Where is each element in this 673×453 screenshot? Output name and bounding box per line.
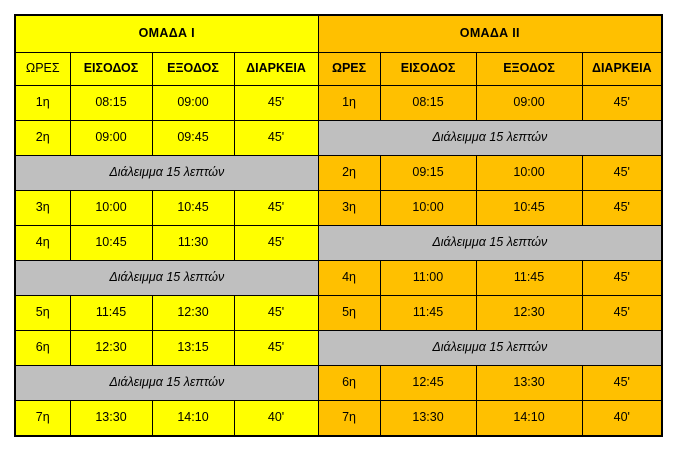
cell-entry-time: 12:30	[70, 331, 152, 366]
cell-period-number: 4η	[318, 261, 380, 296]
group-title-row: ΟΜΑΔΑ ΙΟΜΑΔΑ ΙΙ	[15, 15, 662, 53]
cell-duration: 45'	[582, 156, 662, 191]
cell-duration: 45'	[234, 331, 318, 366]
cell-duration: 40'	[582, 401, 662, 437]
cell-duration: 45'	[234, 191, 318, 226]
cell-entry-time: 08:15	[380, 86, 476, 121]
schedule-row: Διάλειμμα 15 λεπτών4η11:0011:4545'	[15, 261, 662, 296]
cell-period-number: 7η	[318, 401, 380, 437]
schedule-table: ΟΜΑΔΑ ΙΟΜΑΔΑ ΙΙΩΡΕΣΕΙΣΟΔΟΣΕΞΟΔΟΣΔΙΑΡΚΕΙΑ…	[14, 14, 663, 437]
cell-entry-time: 13:30	[380, 401, 476, 437]
break-row-label: Διάλειμμα 15 λεπτών	[15, 366, 318, 401]
cell-exit-time: 09:00	[476, 86, 582, 121]
schedule-row: 4η10:4511:3045'Διάλειμμα 15 λεπτών	[15, 226, 662, 261]
cell-entry-time: 09:00	[70, 121, 152, 156]
column-header-g2-0: ΩΡΕΣ	[318, 53, 380, 86]
cell-exit-time: 10:45	[476, 191, 582, 226]
cell-exit-time: 13:15	[152, 331, 234, 366]
schedule-row: 3η10:0010:4545'3η10:0010:4545'	[15, 191, 662, 226]
cell-period-number: 2η	[15, 121, 70, 156]
cell-entry-time: 10:00	[380, 191, 476, 226]
cell-duration: 45'	[582, 296, 662, 331]
cell-duration: 45'	[234, 296, 318, 331]
column-header-g1-2: ΕΞΟΔΟΣ	[152, 53, 234, 86]
cell-exit-time: 11:45	[476, 261, 582, 296]
cell-entry-time: 11:00	[380, 261, 476, 296]
cell-exit-time: 12:30	[476, 296, 582, 331]
cell-duration: 45'	[234, 86, 318, 121]
cell-exit-time: 13:30	[476, 366, 582, 401]
cell-exit-time: 14:10	[476, 401, 582, 437]
column-header-g2-2: ΕΞΟΔΟΣ	[476, 53, 582, 86]
cell-period-number: 3η	[318, 191, 380, 226]
column-header-g1-0: ΩΡΕΣ	[15, 53, 70, 86]
cell-duration: 40'	[234, 401, 318, 437]
cell-duration: 45'	[234, 226, 318, 261]
cell-duration: 45'	[582, 366, 662, 401]
break-row-label: Διάλειμμα 15 λεπτών	[318, 226, 662, 261]
cell-duration: 45'	[582, 86, 662, 121]
group-title-1: ΟΜΑΔΑ Ι	[15, 15, 318, 53]
column-header-g2-3: ΔΙΑΡΚΕΙΑ	[582, 53, 662, 86]
cell-duration: 45'	[234, 121, 318, 156]
cell-entry-time: 10:45	[70, 226, 152, 261]
cell-period-number: 7η	[15, 401, 70, 437]
cell-duration: 45'	[582, 261, 662, 296]
cell-period-number: 6η	[318, 366, 380, 401]
schedule-row: 7η13:3014:1040'7η13:3014:1040'	[15, 401, 662, 437]
cell-exit-time: 10:45	[152, 191, 234, 226]
cell-duration: 45'	[582, 191, 662, 226]
cell-period-number: 2η	[318, 156, 380, 191]
cell-entry-time: 11:45	[70, 296, 152, 331]
schedule-row: 1η08:1509:0045'1η08:1509:0045'	[15, 86, 662, 121]
cell-exit-time: 09:45	[152, 121, 234, 156]
cell-period-number: 1η	[318, 86, 380, 121]
break-row-label: Διάλειμμα 15 λεπτών	[15, 156, 318, 191]
schedule-container: ΟΜΑΔΑ ΙΟΜΑΔΑ ΙΙΩΡΕΣΕΙΣΟΔΟΣΕΞΟΔΟΣΔΙΑΡΚΕΙΑ…	[14, 14, 661, 425]
break-row-label: Διάλειμμα 15 λεπτών	[318, 331, 662, 366]
cell-exit-time: 12:30	[152, 296, 234, 331]
cell-entry-time: 11:45	[380, 296, 476, 331]
cell-period-number: 6η	[15, 331, 70, 366]
cell-period-number: 3η	[15, 191, 70, 226]
cell-period-number: 4η	[15, 226, 70, 261]
column-header-g1-1: ΕΙΣΟΔΟΣ	[70, 53, 152, 86]
cell-period-number: 5η	[15, 296, 70, 331]
cell-entry-time: 13:30	[70, 401, 152, 437]
break-row-label: Διάλειμμα 15 λεπτών	[15, 261, 318, 296]
schedule-row: 6η12:3013:1545'Διάλειμμα 15 λεπτών	[15, 331, 662, 366]
break-row-label: Διάλειμμα 15 λεπτών	[318, 121, 662, 156]
schedule-row: Διάλειμμα 15 λεπτών6η12:4513:3045'	[15, 366, 662, 401]
cell-exit-time: 11:30	[152, 226, 234, 261]
schedule-row: 2η09:0009:4545'Διάλειμμα 15 λεπτών	[15, 121, 662, 156]
cell-entry-time: 09:15	[380, 156, 476, 191]
schedule-row: Διάλειμμα 15 λεπτών2η09:1510:0045'	[15, 156, 662, 191]
cell-exit-time: 10:00	[476, 156, 582, 191]
cell-exit-time: 14:10	[152, 401, 234, 437]
column-header-row: ΩΡΕΣΕΙΣΟΔΟΣΕΞΟΔΟΣΔΙΑΡΚΕΙΑΩΡΕΣΕΙΣΟΔΟΣΕΞΟΔ…	[15, 53, 662, 86]
column-header-g1-3: ΔΙΑΡΚΕΙΑ	[234, 53, 318, 86]
cell-entry-time: 12:45	[380, 366, 476, 401]
cell-entry-time: 10:00	[70, 191, 152, 226]
cell-exit-time: 09:00	[152, 86, 234, 121]
cell-entry-time: 08:15	[70, 86, 152, 121]
group-title-2: ΟΜΑΔΑ ΙΙ	[318, 15, 662, 53]
schedule-body: ΟΜΑΔΑ ΙΟΜΑΔΑ ΙΙΩΡΕΣΕΙΣΟΔΟΣΕΞΟΔΟΣΔΙΑΡΚΕΙΑ…	[15, 15, 662, 436]
schedule-row: 5η11:4512:3045'5η11:4512:3045'	[15, 296, 662, 331]
column-header-g2-1: ΕΙΣΟΔΟΣ	[380, 53, 476, 86]
cell-period-number: 5η	[318, 296, 380, 331]
cell-period-number: 1η	[15, 86, 70, 121]
